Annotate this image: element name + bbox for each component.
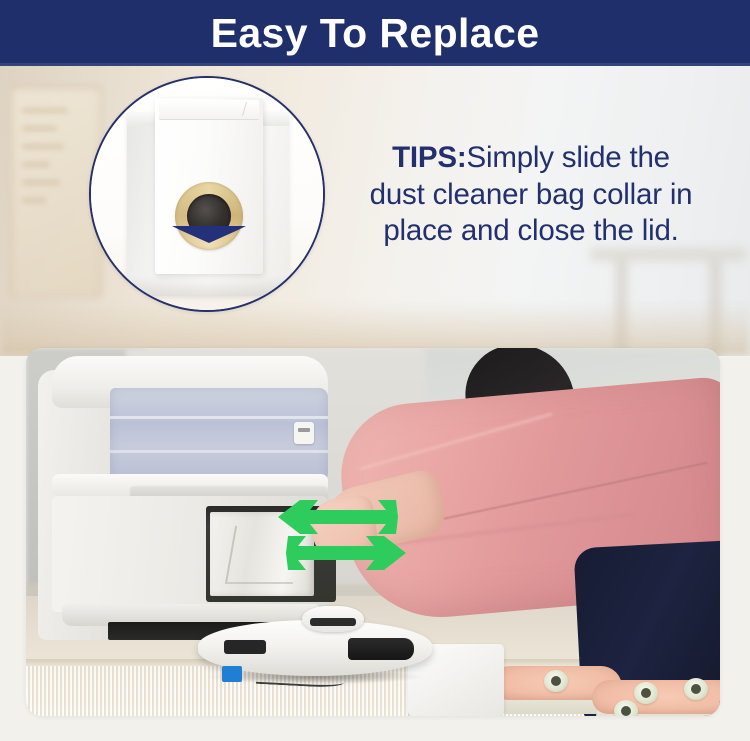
header-banner: Easy To Replace [0,0,750,66]
robot-lidar-turret [302,606,364,632]
robot-side-sensor [224,640,266,654]
arrow-right-icon [276,534,406,572]
slipper-eye-decor [544,670,568,692]
page-title: Easy To Replace [211,13,540,54]
main-photo [26,348,720,716]
arrow-left-icon [278,498,398,536]
robot-front-sensor [348,638,414,660]
tips-text-block: TIPS:Simply slide the dust cleaner bag c… [366,140,696,250]
infographic-page: Easy To Replace TIPS:S [0,0,750,741]
dust-bag-top-flap [159,100,259,120]
dock-tank-latch[interactable] [294,422,314,444]
dust-bag-inset-circle [89,76,325,312]
slipper-eye-decor [684,678,708,700]
dock-water-tank [110,388,328,482]
slipper-eye-decor [634,682,658,704]
dust-bag-front-collar-plate [155,98,263,274]
wall-picture-content [22,108,86,258]
tips-label: TIPS: [392,141,466,174]
blue-floor-marker [222,666,242,682]
down-chevron-icon [172,226,246,244]
slipper-eye-decor [614,700,638,716]
slipper-right [592,680,720,716]
